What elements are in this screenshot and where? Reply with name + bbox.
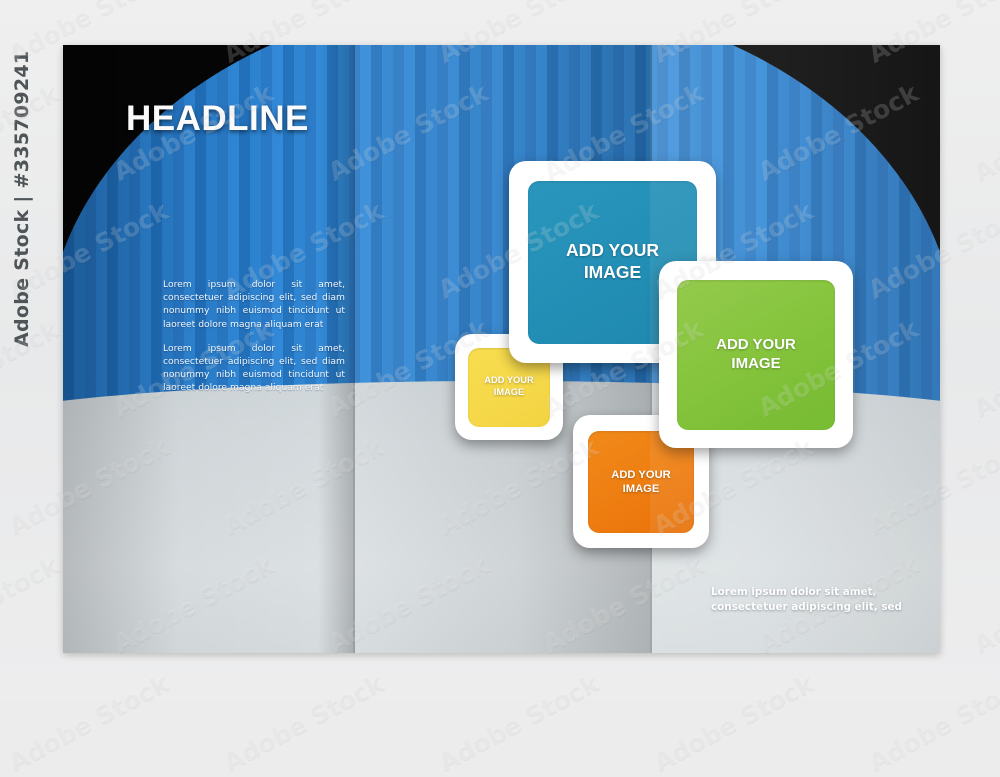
placeholder-line2: IMAGE [731, 355, 780, 372]
image-placeholder-green-inner: ADD YOUR IMAGE [677, 280, 835, 430]
placeholder-line1: ADD YOUR [566, 240, 659, 260]
grey-bottom-fill [63, 440, 940, 653]
watermark-text: Adobe Stock [0, 550, 63, 658]
body-paragraph-2: Lorem ipsum dolor sit amet, consectetuer… [163, 342, 345, 395]
watermark-text: Adobe Stock [864, 668, 1000, 776]
placeholder-line1: ADD YOUR [716, 336, 796, 353]
fold-line-left [353, 45, 355, 653]
stock-credit-watermark: Adobe Stock | #335709241 [11, 51, 33, 347]
brochure-artwork: ADD YOUR IMAGE ADD YOUR IMAGE ADD YOUR I… [63, 45, 940, 653]
image-placeholder-green[interactable]: ADD YOUR IMAGE [659, 261, 853, 448]
body-copy-block: Lorem ipsum dolor sit amet, consectetuer… [163, 278, 345, 406]
headline-text: HEADLINE [126, 99, 309, 139]
placeholder-line1: ADD YOUR [484, 375, 533, 385]
watermark-text: Adobe Stock [969, 314, 1000, 422]
watermark-text: Adobe Stock [219, 668, 389, 776]
watermark-text: Adobe Stock [4, 668, 174, 776]
bottom-copy-text: Lorem ipsum dolor sit amet, consectetuer… [711, 585, 940, 615]
body-paragraph-1: Lorem ipsum dolor sit amet, consectetuer… [163, 278, 345, 331]
stock-preview-canvas: Adobe Stock | #335709241 ADD YOUR IMAGE … [0, 0, 1000, 700]
placeholder-line2: IMAGE [623, 483, 660, 495]
placeholder-line2: IMAGE [494, 387, 524, 397]
placeholder-line1: ADD YOUR [611, 469, 670, 481]
watermark-text: Adobe Stock [969, 78, 1000, 186]
watermark-text: Adobe Stock [434, 668, 604, 776]
placeholder-line2: IMAGE [584, 262, 641, 282]
watermark-text: Adobe Stock [969, 550, 1000, 658]
watermark-text: Adobe Stock [649, 668, 819, 776]
